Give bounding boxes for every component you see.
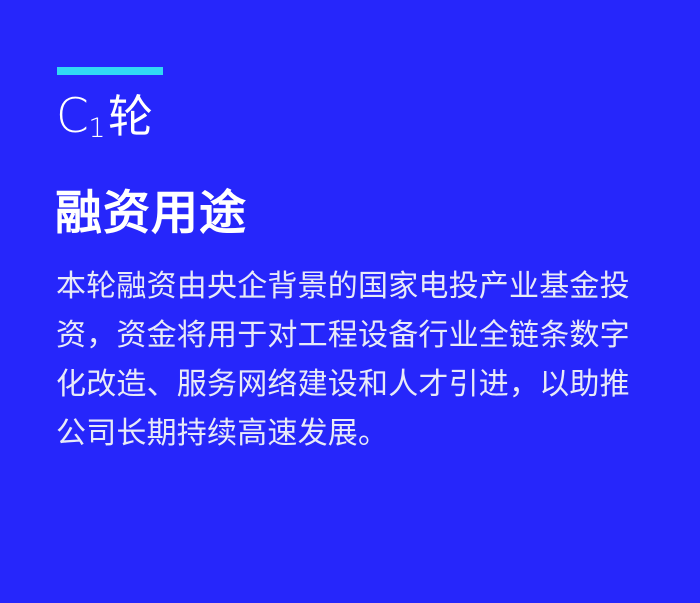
funding-round-subscript: 1 — [88, 113, 106, 144]
page-title: 融资用途 — [55, 188, 247, 237]
body-paragraph: 本轮融资由央企背景的国家电投产业基金投资，资金将用于对工程设备行业全链条数字化改… — [56, 262, 648, 458]
accent-bar — [57, 67, 163, 75]
funding-round-label: C1轮 — [56, 92, 154, 140]
funding-round-unit: 轮 — [108, 90, 154, 143]
body-copy: 本轮融资由央企背景的国家电投产业基金投资，资金将用于对工程设备行业全链条数字化改… — [56, 262, 648, 458]
slide-root: C1轮 融资用途 本轮融资由央企背景的国家电投产业基金投资，资金将用于对工程设备… — [0, 0, 700, 603]
funding-round-letter: C — [56, 89, 89, 144]
